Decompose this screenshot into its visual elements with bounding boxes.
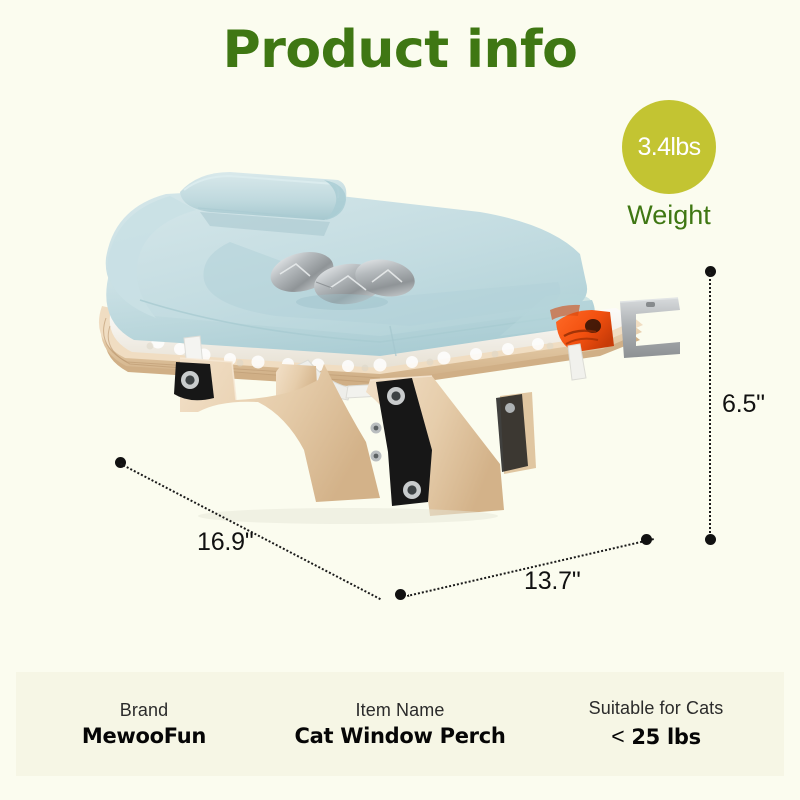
suitable-label: Suitable for Cats <box>528 696 784 720</box>
height-dim-label: 6.5" <box>722 390 765 419</box>
height-dim-line <box>709 272 711 540</box>
depth-dim-dot-right <box>395 589 406 600</box>
product-info-bar: Brand MewooFun Item Name Cat Window Perc… <box>16 672 784 776</box>
brand-label: Brand <box>16 698 272 722</box>
info-column-brand: Brand MewooFun <box>16 698 272 751</box>
page-title: Product info <box>0 24 800 76</box>
height-dim-dot-bottom <box>705 534 716 545</box>
product-info-infographic: Product info 3.4lbs Weight <box>0 0 800 800</box>
width-dim-dot-right <box>641 534 652 545</box>
suitable-value: < 25 lbs <box>528 721 784 752</box>
plywood-supports <box>180 358 536 516</box>
info-column-suitable-for-cats: Suitable for Cats < 25 lbs <box>528 696 784 751</box>
metal-bracket <box>620 298 680 358</box>
width-dim-label: 13.7" <box>524 567 581 596</box>
item-name-label: Item Name <box>272 698 528 722</box>
suitable-weight: 25 lbs <box>631 725 700 749</box>
item-name-value: Cat Window Perch <box>272 722 528 750</box>
info-column-item-name: Item Name Cat Window Perch <box>272 698 528 751</box>
less-than-icon: < <box>611 723 624 749</box>
depth-dim-label: 16.9" <box>197 528 254 557</box>
brand-value: MewooFun <box>16 722 272 750</box>
